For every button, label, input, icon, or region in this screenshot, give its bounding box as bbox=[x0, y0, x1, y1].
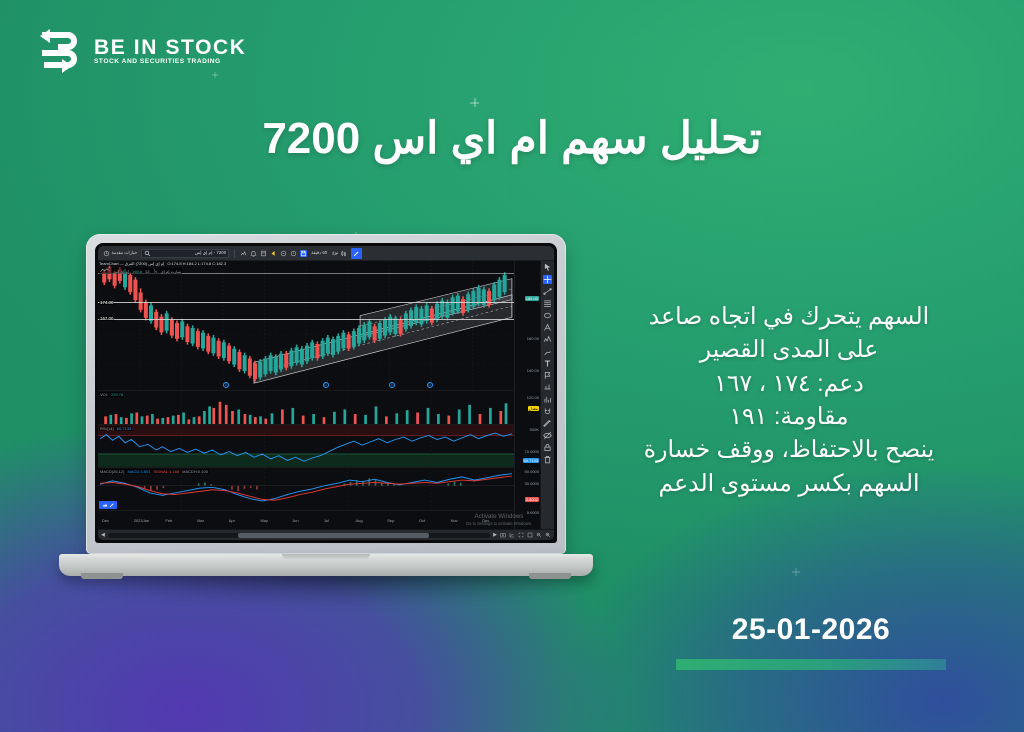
layout-icon bbox=[103, 250, 110, 257]
drawing-tools-rail bbox=[540, 261, 554, 529]
flag-icon[interactable] bbox=[543, 371, 552, 380]
time-tick: Oct bbox=[419, 518, 451, 523]
rsi-legend-value: 60.7133 bbox=[117, 426, 131, 431]
time-tick: Jul bbox=[324, 518, 356, 523]
time-tick: Aug bbox=[356, 518, 388, 523]
analysis-text-block: السهم يتحرك في اتجاه صاعد على المدى القص… bbox=[584, 300, 994, 500]
magnet-icon[interactable] bbox=[543, 407, 552, 416]
laptop-bezel: نوع 60 دقيقة bbox=[95, 243, 557, 543]
search-input[interactable]: 7200 - إم إي إس bbox=[141, 249, 229, 258]
price-tick: 160.00 bbox=[527, 336, 539, 341]
list-item[interactable]: D bbox=[427, 382, 433, 388]
macd-legend-name: MACD(26,12) bbox=[100, 469, 124, 474]
date-underline bbox=[676, 659, 946, 670]
list-item[interactable]: D bbox=[389, 382, 395, 388]
lock-icon[interactable] bbox=[543, 443, 552, 452]
undo-icon[interactable] bbox=[280, 250, 287, 257]
bar-pattern-icon[interactable] bbox=[543, 395, 552, 404]
price-pane[interactable]: 174.00 167.00 TeamChart — إم إي إس (7200… bbox=[98, 261, 514, 390]
redo-icon[interactable] bbox=[290, 250, 297, 257]
log-scale-icon[interactable] bbox=[509, 532, 515, 538]
toolbar-candle-type[interactable]: نوع bbox=[331, 250, 348, 257]
toolbar-layout-options[interactable]: خيارات مقدمة bbox=[102, 250, 138, 257]
toolbar-layout-label: خيارات مقدمة bbox=[112, 250, 138, 256]
macd-legend: MACD(26,12) MACD:3.801 SIGNAL:1.165 MACD… bbox=[99, 469, 209, 474]
time-tick: Sep bbox=[387, 518, 419, 523]
ma-legend-name: إم إي إس bbox=[113, 269, 129, 274]
scrollbar[interactable] bbox=[108, 533, 490, 538]
search-value: 7200 - إم إي إس bbox=[195, 250, 226, 256]
macd-legend-signal: SIGNAL:1.165 bbox=[153, 469, 179, 474]
brush-icon[interactable] bbox=[543, 347, 552, 356]
scrollbar-thumb[interactable] bbox=[238, 533, 429, 538]
measure-icon[interactable] bbox=[543, 383, 552, 392]
time-tick: 2023Jan bbox=[134, 518, 166, 523]
trend-line-icon[interactable] bbox=[543, 287, 552, 296]
ma-legend-icon bbox=[100, 268, 110, 274]
price-tick: 120.00 bbox=[527, 395, 539, 400]
analysis-trend: السهم يتحرك في اتجاه صاعد على المدى القص… bbox=[584, 300, 994, 367]
time-tick: Nov bbox=[451, 518, 483, 523]
volume-legend-name: VOL bbox=[100, 392, 108, 397]
rsi-pane[interactable]: RSI(14) 60.7133 bbox=[98, 424, 514, 467]
pencil-icon[interactable] bbox=[351, 248, 362, 259]
symbol-legend: TeamChart — إم إي إس (7200) الفرق bbox=[99, 261, 164, 266]
elliott-wave-icon[interactable] bbox=[543, 335, 552, 344]
chart-pane-stack: 174.00 167.00 TeamChart — إم إي إس (7200… bbox=[98, 261, 514, 529]
support-line-174 bbox=[98, 302, 514, 303]
text-tool-icon[interactable] bbox=[543, 359, 552, 368]
analysis-resistance: مقاومة: ١٩١ bbox=[584, 400, 994, 433]
brand-name: BE IN STOCK bbox=[94, 37, 247, 58]
price-tick: 140.00 bbox=[527, 368, 539, 373]
toolbar-candle-label: نوع bbox=[332, 250, 338, 256]
volume-legend: VOL 225.78 bbox=[99, 392, 124, 397]
volume-legend-value: 225.78 bbox=[111, 392, 123, 397]
page-title: تحليل سهم ام اي اس 7200 bbox=[0, 113, 1024, 164]
rsi-axis-tick: 50.0000 bbox=[525, 469, 539, 474]
ma-legend-period: 13 bbox=[145, 269, 149, 274]
analysis-support: دعم: ١٧٤ ، ١٦٧ bbox=[584, 367, 994, 400]
time-axis-pane: Dec 2023Jan Feb Mar Apr May Jun Jul Aug … bbox=[98, 510, 514, 529]
rsi-legend-name: RSI(14) bbox=[100, 426, 114, 431]
date-block: 25-01-2026 bbox=[676, 613, 946, 670]
publish-date: 25-01-2026 bbox=[676, 613, 946, 647]
list-item[interactable]: D bbox=[323, 382, 329, 388]
laptop-lid: نوع 60 دقيقة bbox=[86, 234, 566, 554]
macd-legend-hist: MACDH:0.100 bbox=[182, 469, 208, 474]
time-tick: Feb bbox=[165, 518, 197, 523]
save-icon[interactable] bbox=[300, 250, 307, 257]
alert-bell-icon[interactable] bbox=[250, 250, 257, 257]
be-in-stock-logo-icon bbox=[28, 26, 84, 76]
fib-retracement-icon[interactable] bbox=[543, 299, 552, 308]
app-toolbar: نوع 60 دقيقة bbox=[98, 246, 554, 261]
time-tick: Apr bbox=[229, 518, 261, 523]
support-line-167 bbox=[98, 319, 514, 320]
trading-app-screen: نوع 60 دقيقة bbox=[98, 246, 554, 540]
time-tick: Dec bbox=[482, 518, 514, 523]
zoom-in-icon[interactable] bbox=[545, 532, 551, 538]
macd-legend-macd: MACD:3.801 bbox=[127, 469, 150, 474]
indicators-icon[interactable] bbox=[240, 250, 247, 257]
time-tick: May bbox=[260, 518, 292, 523]
analysis-recommendation: ينصح بالاحتفاظ، ووقف خسارة السهم بكسر مس… bbox=[584, 433, 994, 500]
draw-mode-icon[interactable] bbox=[543, 419, 552, 428]
rsi-value-badge: 60.7133 bbox=[523, 458, 539, 463]
laptop-foot-left bbox=[81, 573, 123, 579]
rsi-legend: RSI(14) 60.7133 bbox=[99, 426, 132, 431]
price-axis[interactable]: 185.00 160.00 140.00 120.00 معدل 500K 70… bbox=[514, 261, 540, 529]
auto-fit-icon[interactable] bbox=[518, 532, 524, 538]
search-icon bbox=[144, 250, 151, 257]
status-bar: ◀ ▶ bbox=[98, 529, 554, 540]
chevron-right-icon[interactable]: ▶ bbox=[493, 532, 497, 538]
laptop-base bbox=[59, 554, 593, 576]
candle-type-icon bbox=[340, 250, 347, 257]
time-tick: Jun bbox=[292, 518, 324, 523]
fullscreen-icon[interactable] bbox=[527, 532, 533, 538]
cursor-icon[interactable] bbox=[543, 263, 552, 272]
macd-value-badge: 3.8002 bbox=[525, 497, 539, 502]
ellipse-shape-icon[interactable] bbox=[543, 311, 552, 320]
snapshot-icon[interactable] bbox=[500, 532, 506, 538]
rsi-axis-tick: 70.0000 bbox=[525, 449, 539, 454]
laptop-base-notch bbox=[282, 554, 370, 559]
brand-logo: BE IN STOCK STOCK AND SECURITIES TRADING bbox=[28, 26, 247, 76]
ma-legend: إم إي إس 198.8 13 شارت إم إي bbox=[99, 268, 182, 274]
last-price-badge: 185.00 bbox=[525, 296, 539, 301]
cart-icon[interactable] bbox=[153, 268, 158, 274]
macd-pane[interactable]: MACD(26,12) MACD:3.801 SIGNAL:1.165 MACD… bbox=[98, 467, 514, 510]
time-axis: Dec 2023Jan Feb Mar Apr May Jun Jul Aug … bbox=[98, 511, 514, 529]
support-label-174: 174.00 bbox=[99, 300, 114, 305]
time-tick: Dec bbox=[102, 518, 134, 523]
ma-legend-value: 198.8 bbox=[132, 269, 142, 274]
list-item[interactable]: D bbox=[223, 382, 229, 388]
hide-drawings-icon[interactable] bbox=[543, 431, 552, 440]
pitchfork-icon[interactable] bbox=[543, 323, 552, 332]
crosshair-icon[interactable] bbox=[543, 275, 552, 284]
average-price-badge: معدل bbox=[528, 406, 539, 411]
time-tick: Mar bbox=[197, 518, 229, 523]
toolbar-interval[interactable]: 60 دقيقة bbox=[310, 250, 328, 256]
chart-body: 174.00 167.00 TeamChart — إم إي إس (7200… bbox=[98, 261, 554, 529]
macd-axis-tick: 0.0000 bbox=[527, 510, 539, 515]
brand-tagline: STOCK AND SECURITIES TRADING bbox=[94, 59, 247, 66]
volume-pane[interactable]: VOL 225.78 bbox=[98, 390, 514, 425]
laptop-foot-right bbox=[529, 573, 571, 579]
volume-axis-tick: 500K bbox=[530, 427, 539, 432]
template-icon[interactable] bbox=[260, 250, 267, 257]
replay-icon[interactable] bbox=[270, 250, 277, 257]
chevron-left-icon[interactable]: ◀ bbox=[101, 532, 105, 538]
ohlc-values: O:174.8 H:184.2 L:174.8 C:182.3 bbox=[167, 261, 226, 266]
zoom-out-icon[interactable] bbox=[536, 532, 542, 538]
laptop-mockup: نوع 60 دقيقة bbox=[86, 234, 566, 576]
chart-style-button[interactable] bbox=[99, 501, 117, 509]
toolbar-interval-label: 60 دقيقة bbox=[311, 250, 327, 256]
trash-icon[interactable] bbox=[543, 455, 552, 464]
ma-legend-tag: شارت إم إي bbox=[161, 269, 181, 274]
chart-symbol-header: TeamChart — إم إي إس (7200) الفرق O:174.… bbox=[99, 261, 226, 266]
rsi-axis-tick: 30.0000 bbox=[525, 481, 539, 486]
toolbar-separator bbox=[234, 249, 235, 258]
support-label-167: 167.00 bbox=[99, 316, 114, 321]
